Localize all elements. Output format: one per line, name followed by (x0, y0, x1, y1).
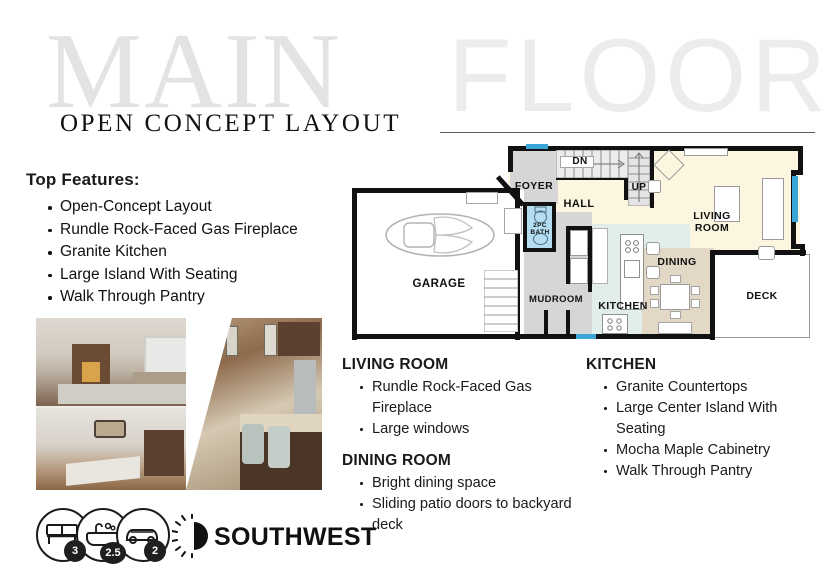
wall-hall-right (650, 148, 654, 208)
floor-plan: GARAGE FOYER 2PC BATH MUDROOM HALL DN UP… (348, 142, 816, 338)
car-icon (384, 206, 496, 264)
list-item: Large Island With Seating (48, 264, 346, 287)
fireplace (684, 148, 728, 156)
counter-run (592, 228, 608, 284)
page-subtitle: OPEN CONCEPT LAYOUT (60, 110, 401, 138)
stairs-up-icon (628, 150, 650, 206)
room-label-2pc: 2PC (524, 222, 556, 229)
sofa (762, 178, 784, 240)
photo-kitchen (186, 318, 322, 490)
list-item: Rundle Rock-Faced Gas Fireplace (48, 219, 346, 242)
column-dining-room: DINING ROOM Bright dining space Sliding … (342, 452, 572, 536)
list-item: Walk Through Pantry (48, 286, 346, 309)
wall-foyer-left (508, 146, 513, 172)
brochure-page: MAIN FLOOR OPEN CONCEPT LAYOUT Top Featu… (0, 0, 825, 583)
list-item: Granite Countertops (604, 377, 821, 398)
ghost-title-floor: FLOOR (448, 24, 825, 128)
column-heading: LIVING ROOM (342, 356, 572, 374)
pantry-shelf (570, 258, 588, 284)
room-label-bath: BATH (524, 229, 556, 236)
column-list: Rundle Rock-Faced Gas Fireplace Large wi… (342, 377, 572, 440)
dining-chair (650, 286, 659, 295)
column-list: Bright dining space Sliding patio doors … (342, 473, 572, 536)
room-label-foyer: FOYER (506, 180, 562, 192)
dining-chair (670, 311, 681, 319)
column-living-room: LIVING ROOM Rundle Rock-Faced Gas Firepl… (342, 356, 572, 440)
badge-value-bedrooms: 3 (64, 540, 86, 562)
list-item: Large windows (360, 419, 572, 440)
dining-chair (691, 286, 700, 295)
room-label-up: UP (628, 182, 650, 193)
column-kitchen: KITCHEN Granite Countertops Large Center… (586, 356, 821, 482)
room-label-hall: HALL (544, 198, 614, 210)
photo-pendant-light (264, 324, 277, 356)
dining-table (660, 284, 690, 310)
half-sun-icon (172, 514, 216, 558)
closet (466, 192, 498, 204)
window-kitchen-bottom (576, 334, 596, 339)
sideboard (658, 322, 692, 334)
photo-pendant-light (226, 326, 238, 356)
wall-mud-bottom2 (566, 310, 570, 338)
photo-rug (58, 384, 186, 404)
island-sink (624, 260, 640, 278)
window-front (526, 144, 548, 149)
closet (504, 208, 522, 234)
wall-dining-side (710, 250, 715, 340)
subtitle-rule (440, 132, 815, 133)
dining-chair (670, 275, 681, 283)
top-features-title: Top Features: (26, 170, 346, 190)
photo-collage (36, 318, 322, 490)
column-heading: KITCHEN (586, 356, 821, 374)
spec-badges: 3 2.5 2 (36, 508, 166, 564)
wall-bath-bottom (523, 248, 556, 252)
photo-chandelier (94, 420, 126, 438)
brand-name: SOUTHWEST (214, 523, 376, 552)
dining-chair (691, 299, 700, 308)
bar-stool (646, 242, 660, 255)
photo-refrigerator (294, 360, 316, 418)
wall-bottom-garage (352, 334, 520, 339)
window-living-right (792, 176, 798, 222)
top-features-block: Top Features: Open-Concept Layout Rundle… (26, 170, 346, 309)
column-heading: DINING ROOM (342, 452, 572, 470)
photo-flame (82, 362, 100, 382)
room-label-living-2: ROOM (678, 222, 746, 234)
list-item: Granite Kitchen (48, 241, 346, 264)
top-features-list: Open-Concept Layout Rundle Rock-Faced Ga… (26, 196, 346, 309)
room-label-dining: DINING (648, 256, 706, 268)
room-label-kitchen: KITCHEN (588, 300, 658, 312)
list-item: Walk Through Pantry (604, 461, 821, 482)
room-label-dn: DN (566, 156, 594, 167)
photo-dining-table (66, 456, 140, 486)
photo-upper-cabinets (278, 322, 320, 356)
list-item: Bright dining space (360, 473, 572, 494)
photo-bar-stool (268, 426, 290, 468)
column-list: Granite Countertops Large Center Island … (586, 377, 821, 482)
list-item: Sliding patio doors to backyard deck (360, 494, 572, 536)
side-table (758, 246, 775, 260)
pantry-shelf (570, 230, 588, 256)
photo-living-room (36, 318, 211, 406)
room-label-deck: DECK (730, 290, 794, 302)
list-item: Mocha Maple Cabinetry (604, 440, 821, 461)
room-label-living: LIVING (678, 210, 746, 222)
list-item: Open-Concept Layout (48, 196, 346, 219)
wall-left-garage (352, 188, 357, 340)
photo-dining-room (36, 408, 211, 490)
photo-cabinet (144, 430, 184, 476)
list-item: Large Center Island With Seating (604, 398, 821, 440)
room-label-garage: GARAGE (394, 278, 484, 290)
wall-mud-bottom (544, 310, 548, 338)
cooktop-icon (623, 238, 641, 254)
photo-bar-stool (242, 424, 264, 464)
range-burners-icon (605, 316, 625, 332)
list-item: Rundle Rock-Faced Gas Fireplace (360, 377, 572, 419)
badge-value-bathrooms: 2.5 (100, 542, 126, 564)
badge-value-garage: 2 (144, 540, 166, 562)
